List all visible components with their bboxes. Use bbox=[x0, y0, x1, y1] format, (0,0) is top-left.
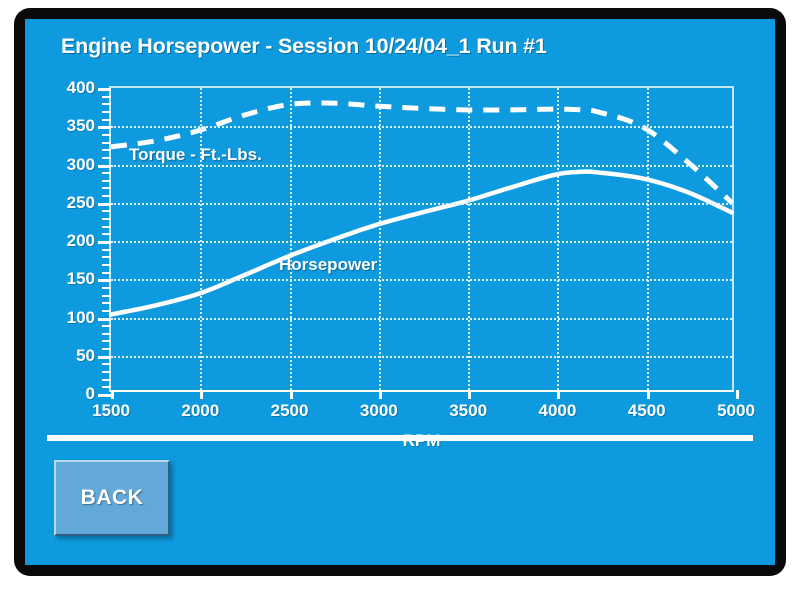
grid-line-horizontal bbox=[111, 126, 732, 128]
y-axis-minor-tick bbox=[102, 264, 111, 266]
y-axis-minor-tick bbox=[102, 310, 111, 312]
chart-curves bbox=[111, 88, 732, 390]
grid-line-horizontal bbox=[111, 203, 732, 205]
y-axis-minor-tick bbox=[102, 111, 111, 113]
series-label-horsepower: Horsepower bbox=[279, 255, 377, 275]
back-button[interactable]: BACK bbox=[54, 460, 170, 536]
x-axis-tick bbox=[379, 390, 382, 399]
grid-line-vertical bbox=[557, 88, 559, 390]
app-panel: Engine Horsepower - Session 10/24/04_1 R… bbox=[25, 19, 775, 565]
x-axis-tick bbox=[468, 390, 471, 399]
page-title: Engine Horsepower - Session 10/24/04_1 R… bbox=[61, 34, 547, 59]
y-axis-tick bbox=[98, 394, 111, 397]
y-axis-minor-tick bbox=[102, 187, 111, 189]
y-axis-minor-tick bbox=[102, 295, 111, 297]
y-axis-label: 400 bbox=[51, 78, 95, 98]
y-axis-label: 300 bbox=[51, 155, 95, 175]
y-axis-tick bbox=[98, 356, 111, 359]
y-axis-minor-tick bbox=[102, 195, 111, 197]
x-axis-label: 4500 bbox=[628, 401, 666, 421]
y-axis-tick bbox=[98, 203, 111, 206]
y-axis-minor-tick bbox=[102, 272, 111, 274]
y-axis-minor-tick bbox=[102, 348, 111, 350]
y-axis-tick bbox=[98, 318, 111, 321]
y-axis-minor-tick bbox=[102, 142, 111, 144]
x-axis-title: RPM bbox=[109, 431, 734, 451]
y-axis-tick bbox=[98, 88, 111, 91]
dyno-chart: 0501001502002503003504001500200025003000… bbox=[25, 67, 775, 407]
device-bezel: Engine Horsepower - Session 10/24/04_1 R… bbox=[14, 8, 786, 576]
y-axis-minor-tick bbox=[102, 218, 111, 220]
chart-plot-area: 0501001502002503003504001500200025003000… bbox=[109, 86, 734, 392]
x-axis-tick bbox=[200, 390, 203, 399]
y-axis-label: 200 bbox=[51, 231, 95, 251]
y-axis-minor-tick bbox=[102, 363, 111, 365]
x-axis-label: 3000 bbox=[360, 401, 398, 421]
grid-line-horizontal bbox=[111, 318, 732, 320]
grid-line-horizontal bbox=[111, 241, 732, 243]
y-axis-minor-tick bbox=[102, 134, 111, 136]
y-axis-minor-tick bbox=[102, 340, 111, 342]
x-axis-label: 2000 bbox=[181, 401, 219, 421]
y-axis-minor-tick bbox=[102, 233, 111, 235]
x-axis-tick bbox=[557, 390, 560, 399]
y-axis-minor-tick bbox=[102, 96, 111, 98]
grid-line-horizontal bbox=[111, 356, 732, 358]
x-axis-label: 2500 bbox=[271, 401, 309, 421]
y-axis-minor-tick bbox=[102, 210, 111, 212]
grid-line-vertical bbox=[290, 88, 292, 390]
y-axis-minor-tick bbox=[102, 149, 111, 151]
y-axis-minor-tick bbox=[102, 157, 111, 159]
y-axis-minor-tick bbox=[102, 119, 111, 121]
grid-line-vertical bbox=[647, 88, 649, 390]
y-axis-minor-tick bbox=[102, 325, 111, 327]
x-axis-label: 1500 bbox=[92, 401, 130, 421]
application-screen: Engine Horsepower - Session 10/24/04_1 R… bbox=[0, 0, 800, 602]
y-axis-minor-tick bbox=[102, 371, 111, 373]
y-axis-tick bbox=[98, 126, 111, 129]
x-axis-tick bbox=[647, 390, 650, 399]
y-axis-minor-tick bbox=[102, 333, 111, 335]
x-axis-tick bbox=[736, 390, 739, 399]
x-axis-tick bbox=[290, 390, 293, 399]
y-axis-minor-tick bbox=[102, 103, 111, 105]
x-axis-label: 5000 bbox=[717, 401, 755, 421]
y-axis-minor-tick bbox=[102, 302, 111, 304]
x-axis-tick bbox=[111, 390, 114, 399]
y-axis-label: 100 bbox=[51, 308, 95, 328]
y-axis-label: 350 bbox=[51, 116, 95, 136]
y-axis-minor-tick bbox=[102, 226, 111, 228]
y-axis-minor-tick bbox=[102, 379, 111, 381]
y-axis-label: 50 bbox=[51, 346, 95, 366]
x-axis-label: 3500 bbox=[449, 401, 487, 421]
grid-line-vertical bbox=[468, 88, 470, 390]
series-label-torque: Torque - Ft.-Lbs. bbox=[129, 145, 262, 165]
y-axis-tick bbox=[98, 165, 111, 168]
back-button-label: BACK bbox=[81, 486, 144, 510]
y-axis-minor-tick bbox=[102, 249, 111, 251]
x-axis-label: 4000 bbox=[539, 401, 577, 421]
y-axis-label: 150 bbox=[51, 269, 95, 289]
y-axis-minor-tick bbox=[102, 386, 111, 388]
y-axis-label: 0 bbox=[51, 384, 95, 404]
y-axis-minor-tick bbox=[102, 256, 111, 258]
y-axis-minor-tick bbox=[102, 172, 111, 174]
grid-line-horizontal bbox=[111, 279, 732, 281]
y-axis-tick bbox=[98, 241, 111, 244]
y-axis-minor-tick bbox=[102, 287, 111, 289]
horsepower-curve bbox=[111, 172, 732, 315]
grid-line-vertical bbox=[379, 88, 381, 390]
y-axis-minor-tick bbox=[102, 180, 111, 182]
y-axis-label: 250 bbox=[51, 193, 95, 213]
y-axis-tick bbox=[98, 279, 111, 282]
grid-line-vertical bbox=[200, 88, 202, 390]
section-divider bbox=[47, 435, 753, 441]
